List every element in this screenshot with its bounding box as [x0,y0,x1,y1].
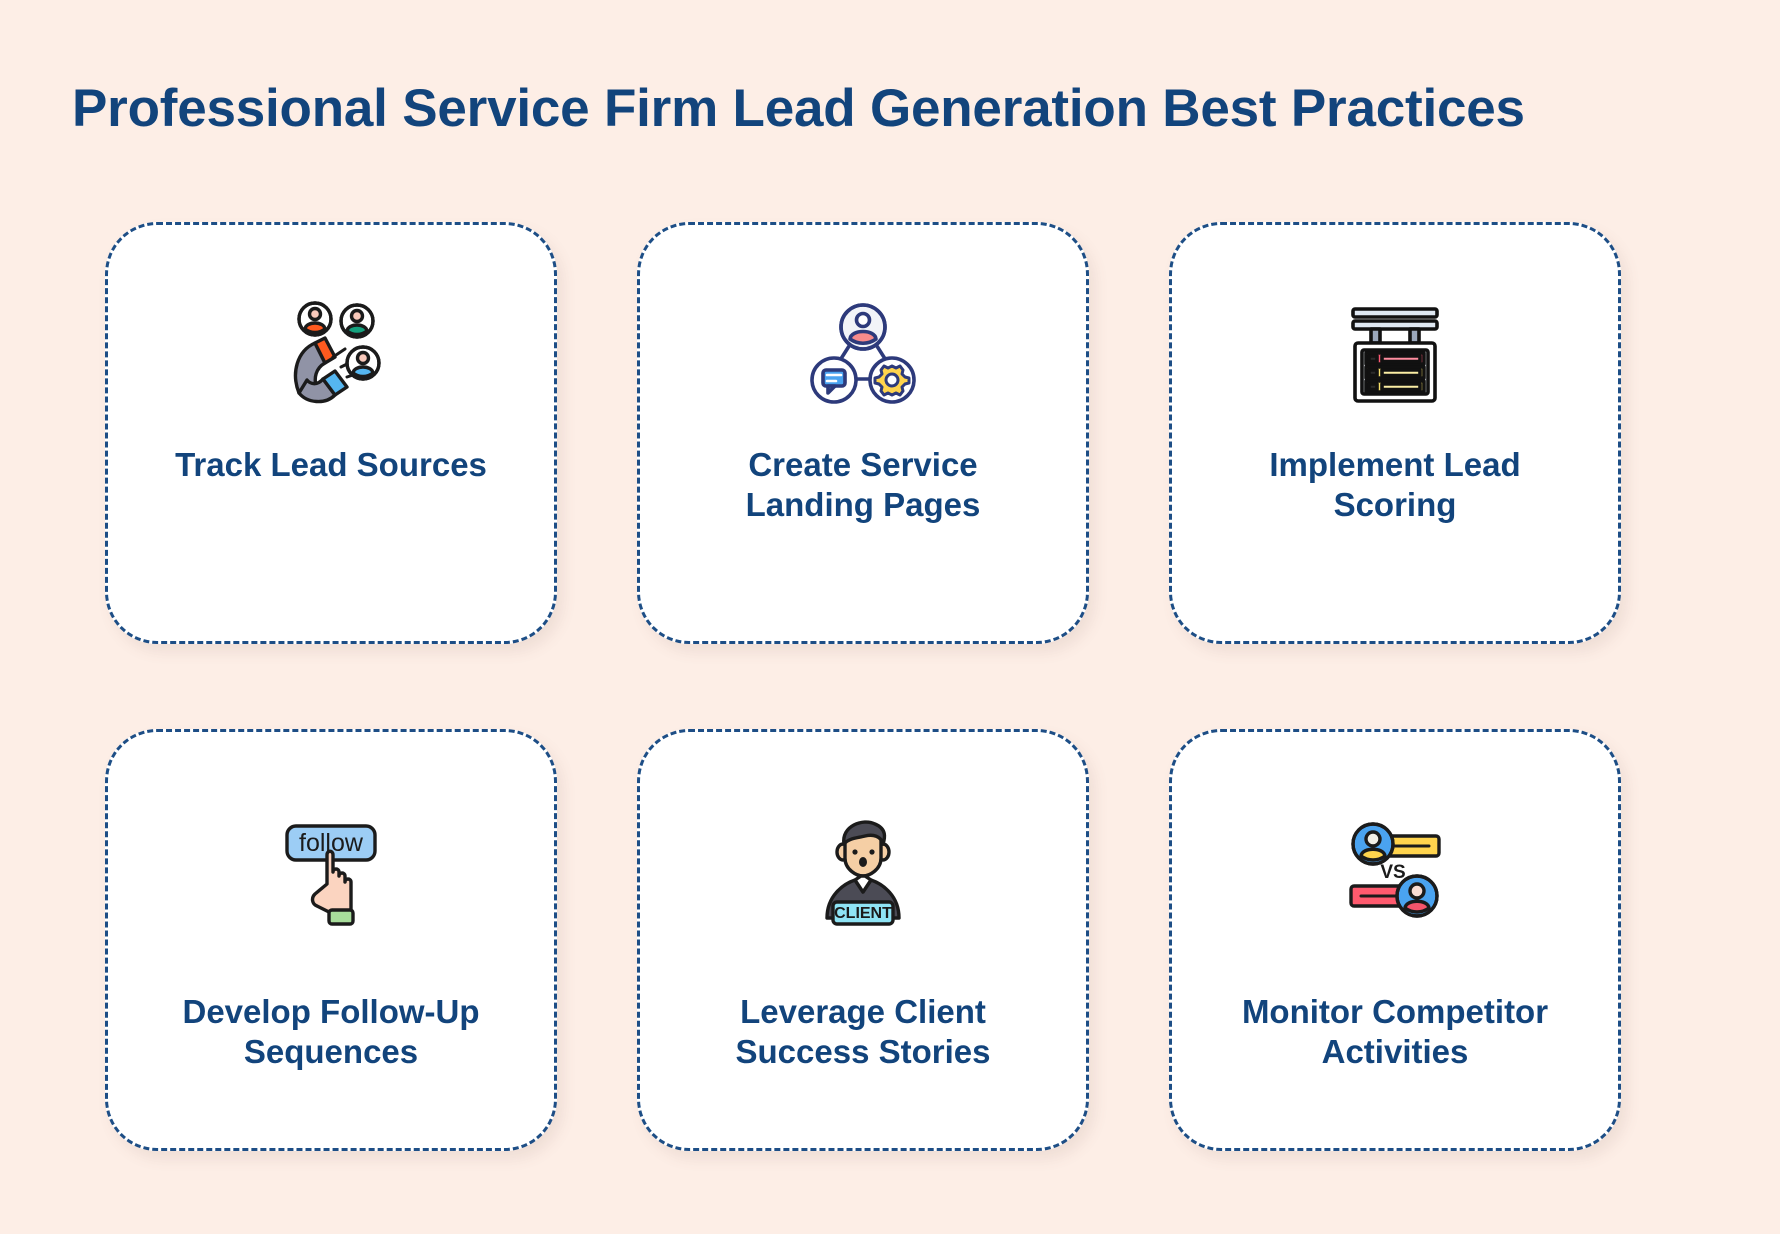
client-person-icon: CLIENT [803,810,923,930]
page-title: Professional Service Firm Lead Generatio… [72,78,1525,139]
card-label: Track Lead Sources [151,445,511,485]
card-label: Create Service Landing Pages [683,445,1043,526]
card-label: Leverage Client Success Stories [683,992,1043,1073]
card-track-lead-sources[interactable]: Track Lead Sources [105,222,557,644]
card-create-service-landing-pages[interactable]: Create Service Landing Pages [637,222,1089,644]
follow-button-hand-icon: follow [271,810,391,930]
best-practices-grid: Track Lead Sources [105,222,1677,1151]
magnet-leads-icon [271,295,391,415]
infographic-page: Professional Service Firm Lead Generatio… [0,0,1780,1234]
versus-comparison-icon: VS [1335,810,1455,930]
card-implement-lead-scoring[interactable]: Implement Lead Scoring [1169,222,1621,644]
card-label: Implement Lead Scoring [1215,445,1575,526]
card-label: Monitor Competitor Activities [1215,992,1575,1073]
card-develop-follow-up-sequences[interactable]: follow Develop Follow-Up Sequences [105,729,557,1151]
network-user-chat-gear-icon [803,295,923,415]
versus-text: VS [1380,862,1405,883]
card-leverage-client-success-stories[interactable]: CLIENT Leverage Client Success Stories [637,729,1089,1151]
card-label: Develop Follow-Up Sequences [151,992,511,1073]
client-badge-text: CLIENT [834,905,892,922]
scoreboard-icon [1335,295,1455,415]
card-monitor-competitor-activities[interactable]: VS Monitor Competitor Activities [1169,729,1621,1151]
